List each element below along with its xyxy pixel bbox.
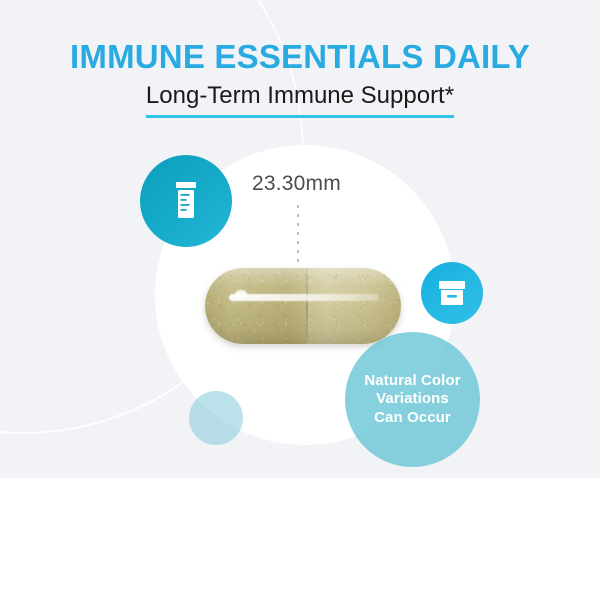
natural-color-variation-badge: Natural Color Variations Can Occur (345, 332, 480, 467)
box-badge (421, 262, 483, 324)
capsule-highlight-dot (235, 290, 247, 298)
capsule-cap-half (306, 268, 401, 344)
box-icon (437, 279, 467, 307)
note-line-2: Variations (364, 390, 460, 408)
natural-color-variation-text: Natural Color Variations Can Occur (364, 372, 460, 427)
product-infographic: IMMUNE ESSENTIALS DAILY Long-Term Immune… (0, 0, 600, 600)
made-without-bar: Made Without (0, 478, 600, 600)
product-capsule (205, 268, 401, 344)
capsule-seam (306, 268, 308, 344)
page-subtitle: Long-Term Immune Support* (146, 82, 454, 118)
capsule-highlight (229, 294, 379, 301)
supplement-bottle-badge (140, 155, 232, 247)
measurement-dotted-line (297, 205, 299, 267)
capsule-measurement-label: 23.30mm (252, 172, 341, 196)
product-showcase-panel: IMMUNE ESSENTIALS DAILY Long-Term Immune… (0, 0, 600, 478)
decorative-circle-small (189, 391, 243, 445)
supplement-bottle-icon (169, 181, 203, 221)
note-line-3: Can Occur (364, 409, 460, 427)
subtitle-container: Long-Term Immune Support* (0, 82, 600, 118)
page-title: IMMUNE ESSENTIALS DAILY (0, 40, 600, 75)
note-line-1: Natural Color (364, 372, 460, 390)
